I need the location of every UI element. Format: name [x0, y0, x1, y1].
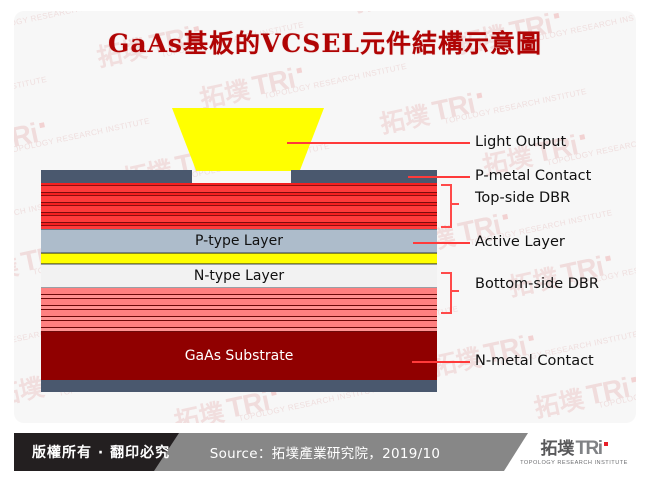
p-metal-contact-left — [41, 170, 192, 183]
watermark-unit: 拓墣TRiTOPOLOGY RESEARCH INSTITUTE — [14, 54, 47, 125]
layer-top-side-dbr — [41, 183, 437, 229]
watermark-cjk-text: 拓墣 — [378, 102, 432, 137]
watermark-unit: 拓墣TRiTOPOLOGY RESEARCH INSTITUTE — [377, 66, 587, 137]
footer-copyright-text: 版權所有 · 翻印必究 — [32, 433, 170, 471]
layer-n-type: N-type Layer — [41, 264, 437, 288]
watermark-cjk-text: 拓墣 — [532, 386, 586, 421]
leader-line-active-layer — [413, 242, 470, 244]
watermark-dot-icon — [631, 377, 636, 383]
watermark-cjk-text: 拓墣 — [172, 399, 226, 423]
light-cone-shape — [172, 108, 324, 171]
watermark-cjk-text: 拓墣 — [198, 77, 252, 112]
watermark-dot-icon — [605, 256, 611, 262]
watermark-dot-icon — [39, 122, 45, 128]
layer-n-metal-contact — [41, 380, 437, 392]
watermark-dot-icon — [528, 335, 534, 341]
layer-label-p-type: P-type Layer — [41, 230, 437, 252]
watermark-unit: 拓墣TRiTOPOLOGY RESEARCH INSTITUTE — [14, 418, 125, 423]
bracket-top-side-dbr — [441, 184, 452, 228]
logo-cjk-text: 拓墣 — [540, 441, 574, 458]
layer-active — [41, 253, 437, 264]
annotation-label-p-metal-contact: P-metal Contact — [475, 168, 591, 184]
bracket-stem-bottom-side-dbr — [450, 290, 459, 292]
bracket-bottom-side-dbr — [441, 272, 452, 314]
watermark-cjk-text: 拓墣 — [352, 11, 406, 16]
annotation-label-top-side-dbr: Top-side DBR — [475, 190, 570, 206]
watermark-dot-icon — [502, 214, 508, 220]
annotation-label-bottom-side-dbr: Bottom-side DBR — [475, 276, 599, 292]
leader-line-p-metal-contact — [408, 176, 470, 178]
watermark-dot-icon — [476, 93, 482, 99]
slide-canvas: 拓墣TRiTOPOLOGY RESEARCH INSTITUTE拓墣TRiTOP… — [0, 0, 650, 485]
logo-mark-text: TRi — [575, 439, 601, 458]
annotation-label-active-layer: Active Layer — [475, 234, 565, 250]
footer-bar: Source：拓墣產業研究院，2019/10 版權所有 · 翻印必究 拓墣 TR… — [14, 433, 636, 471]
page-title: GaAs基板的VCSEL元件結構示意圖 — [0, 24, 650, 60]
leader-line-n-metal-contact — [412, 361, 470, 363]
logo-subtitle-text: TOPOLOGY RESEARCH INSTITUTE — [520, 460, 628, 466]
layer-label-n-type: N-type Layer — [41, 265, 437, 287]
logo-dot-icon — [604, 442, 608, 446]
layer-p-metal-contact — [41, 170, 437, 183]
layer-label-gaas-substrate: GaAs Substrate — [41, 332, 437, 380]
vcsel-device-stack: P-type Layer N-type Layer GaAs Substrate — [41, 170, 437, 392]
layer-p-type: P-type Layer — [41, 229, 437, 253]
watermark-unit: 拓墣TRiTOPOLOGY RESEARCH INSTITUTE — [429, 309, 636, 380]
watermark-subtitle-text: TOPOLOGY RESEARCH INSTITUTE — [14, 75, 48, 114]
watermark-unit: 拓墣TRiTOPOLOGY RESEARCH INSTITUTE — [14, 96, 150, 167]
annotation-label-n-metal-contact: N-metal Contact — [475, 353, 594, 369]
watermark-cjk-text: 拓墣 — [14, 253, 21, 288]
layer-bottom-side-dbr — [41, 288, 437, 332]
bracket-stem-top-side-dbr — [450, 203, 459, 205]
watermark-dot-icon — [579, 134, 585, 140]
watermark-dot-icon — [553, 13, 559, 19]
annotation-label-light-output: Light Output — [475, 134, 566, 150]
watermark-dot-icon — [296, 68, 302, 74]
layer-gaas-substrate: GaAs Substrate — [41, 332, 437, 380]
leader-line-light-output — [287, 142, 470, 144]
